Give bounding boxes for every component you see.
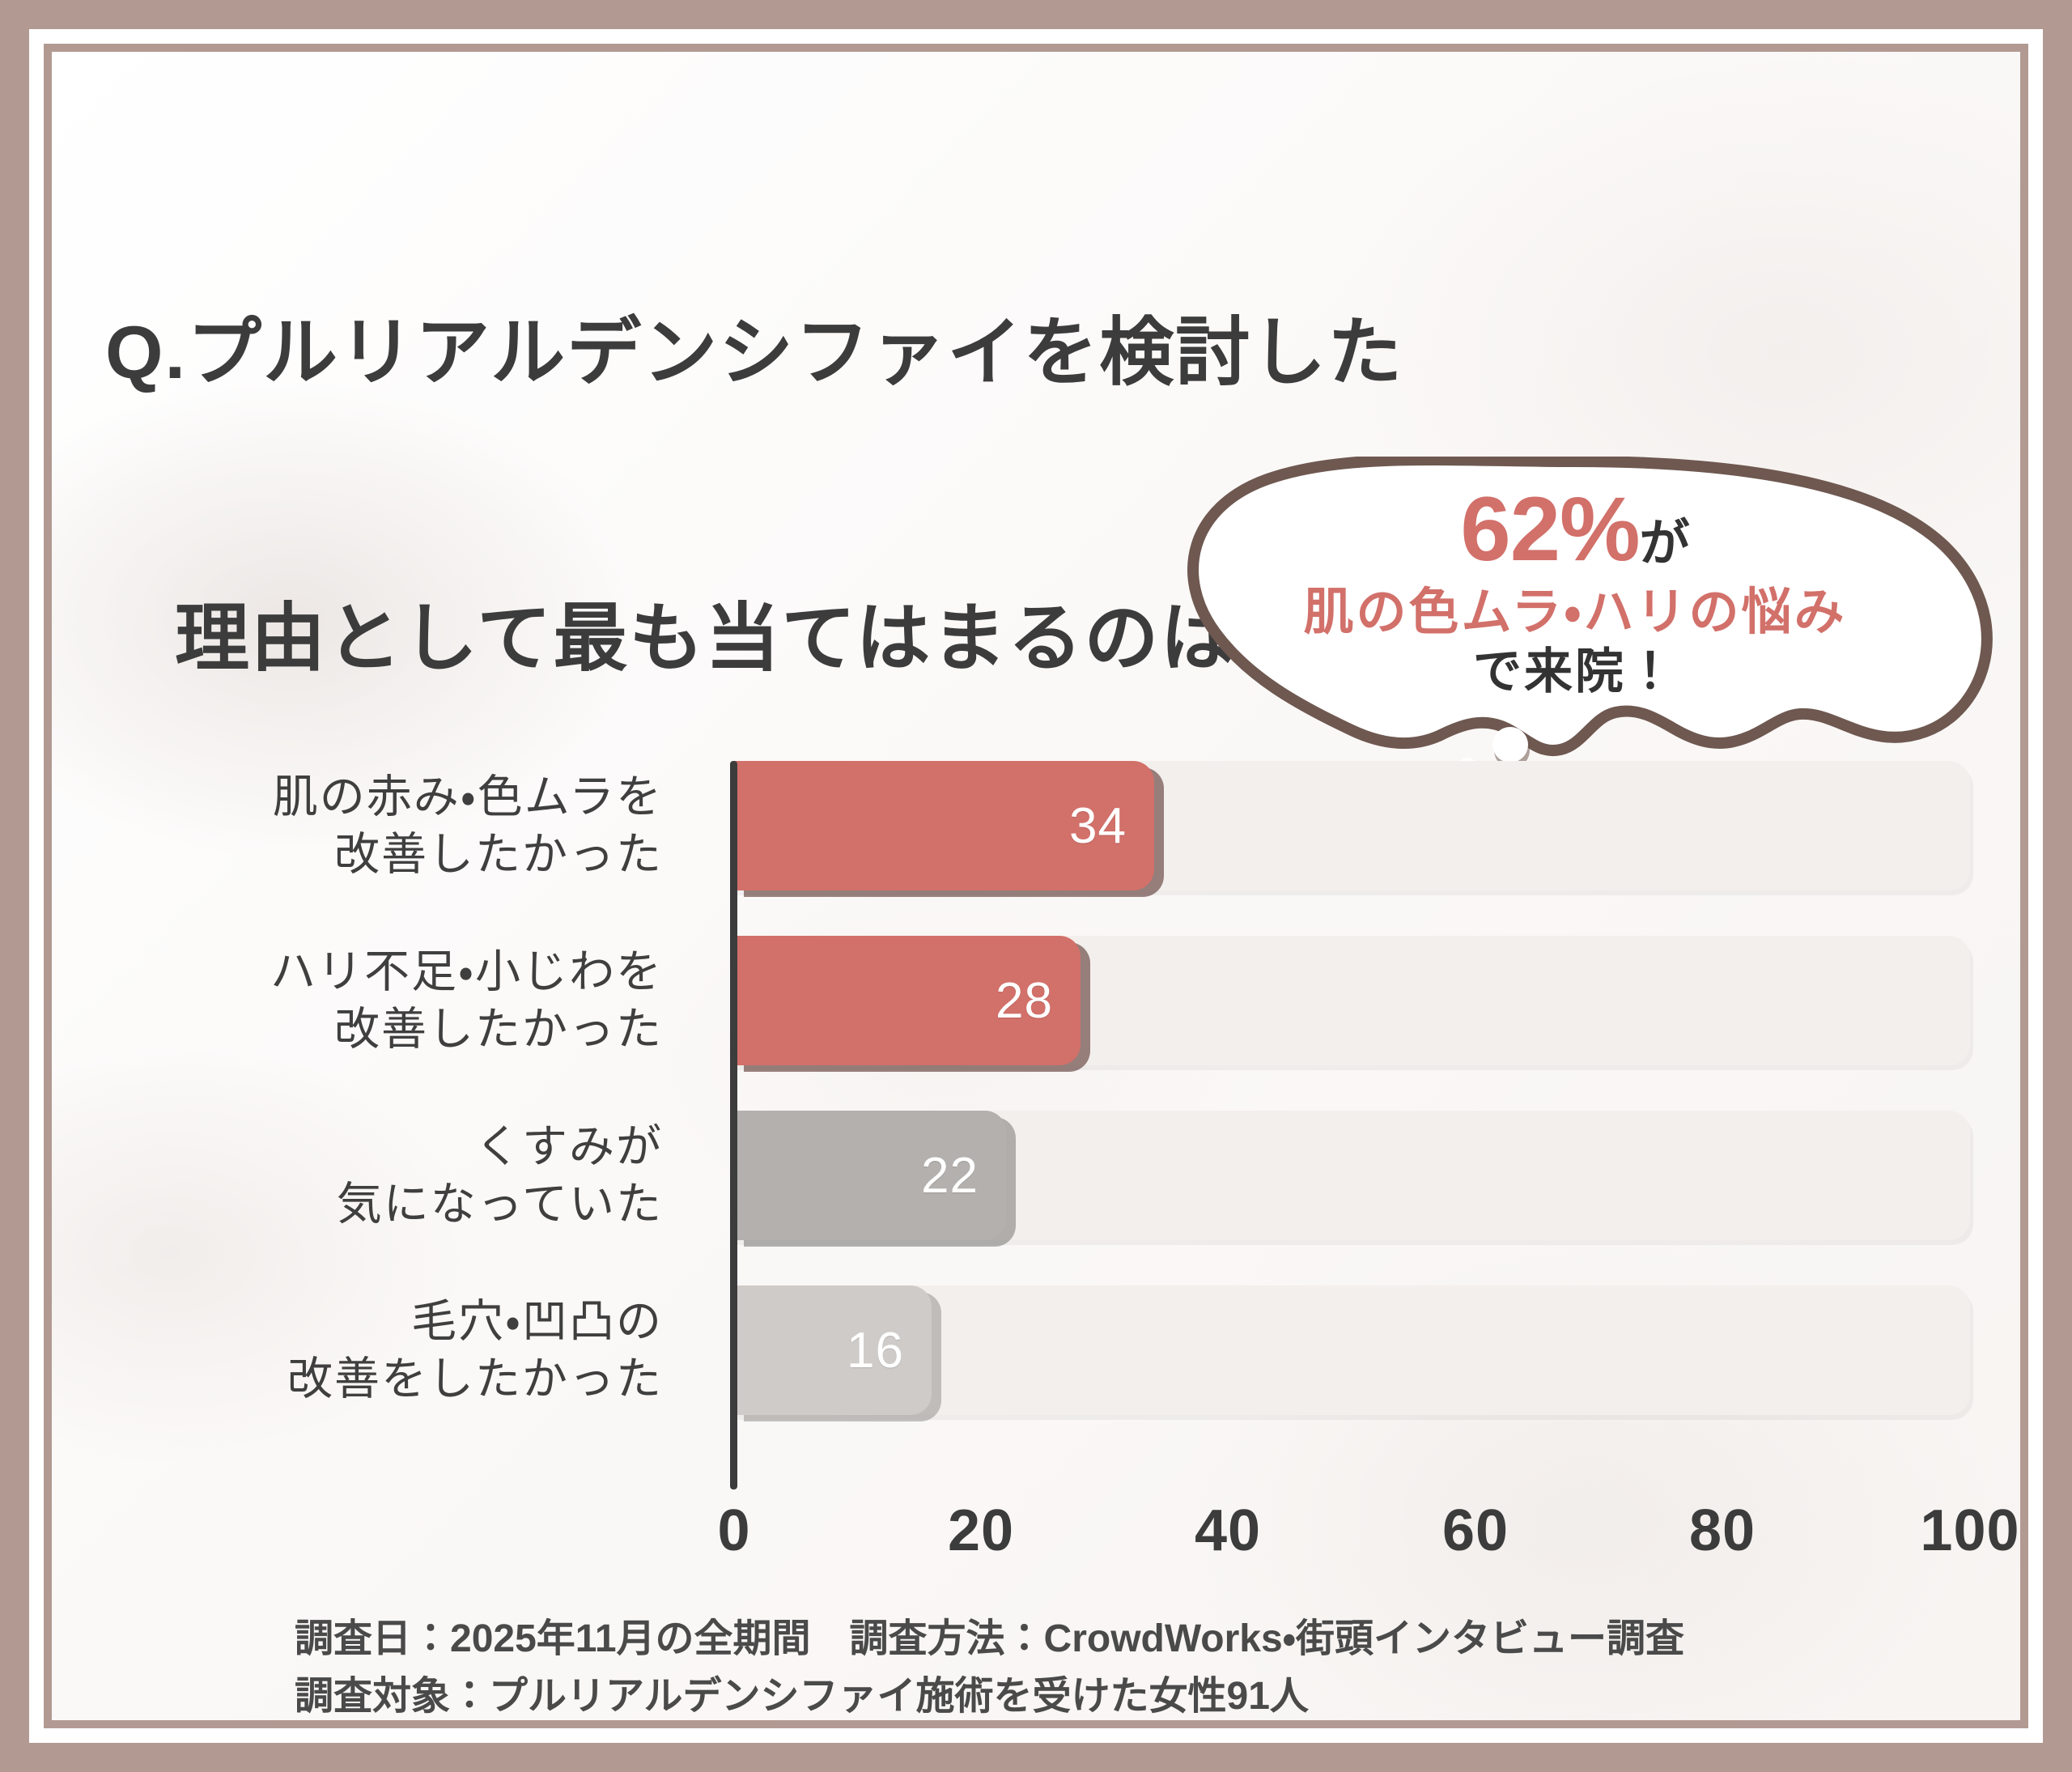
frame-inner-border: Q.プルリアルデンシファイを検討した 理由として最も当てはまるのはどれですか？ … xyxy=(44,44,2028,1728)
bar-value-label: 28 xyxy=(996,972,1053,1030)
chart-row: 肌の赤み・色ムラを 改善したかった 34 xyxy=(52,761,2028,890)
survey-meta: 調査日：2025年11月の全期間 調査方法：CrowdWorks・街頭インタビュ… xyxy=(295,1610,1994,1725)
frame-white-band: Q.プルリアルデンシファイを検討した 理由として最も当てはまるのはどれですか？ … xyxy=(29,29,2043,1743)
callout-line-1: 62%が xyxy=(1146,484,2004,575)
bar: 28 xyxy=(734,936,1081,1065)
survey-meta-line-2: 調査対象：プルリアルデンシファイ施術を受けた女性91人 xyxy=(295,1668,1994,1725)
x-tick: 60 xyxy=(1442,1498,1509,1564)
bar-value-label: 34 xyxy=(1069,797,1127,855)
category-label: くすみが 気になっていた xyxy=(113,1118,663,1232)
category-label: ハリ不足・小じわを 改善したかった xyxy=(113,943,663,1057)
x-tick: 20 xyxy=(948,1498,1014,1564)
x-tick: 40 xyxy=(1195,1498,1261,1564)
bar-value-label: 16 xyxy=(847,1322,904,1379)
poster-content: Q.プルリアルデンシファイを検討した 理由として最も当てはまるのはどれですか？ … xyxy=(52,52,2020,1720)
x-tick: 100 xyxy=(1920,1498,2019,1564)
poster: Q.プルリアルデンシファイを検討した 理由として最も当てはまるのはどれですか？ … xyxy=(0,0,2072,1772)
survey-meta-line-1: 調査日：2025年11月の全期間 調査方法：CrowdWorks・街頭インタビュ… xyxy=(295,1610,1994,1668)
callout-percent: 62% xyxy=(1460,478,1639,580)
bar: 22 xyxy=(734,1111,1006,1240)
bar: 34 xyxy=(734,761,1154,890)
chart-row: 毛穴・凹凸の 改善をしたかった 16 xyxy=(52,1285,2028,1415)
x-tick: 80 xyxy=(1689,1498,1756,1564)
chart-row: くすみが 気になっていた 22 xyxy=(52,1111,2028,1240)
callout-line-2: 肌の色ムラ・ハリの悩み xyxy=(1146,588,2004,638)
category-label: 肌の赤み・色ムラを 改善したかった xyxy=(113,768,663,882)
callout-percent-suffix: が xyxy=(1640,516,1690,572)
bar-chart: 肌の赤み・色ムラを 改善したかった 34 ハリ不足・小じわを 改善したかった 2… xyxy=(52,761,2028,1489)
callout-text: 62%が 肌の色ムラ・ハリの悩み で来院！ xyxy=(1146,484,2004,696)
bar: 16 xyxy=(734,1285,932,1415)
category-label: 毛穴・凹凸の 改善をしたかった xyxy=(113,1293,663,1407)
title-line-1: Q.プルリアルデンシファイを検討した xyxy=(105,306,1999,402)
bar-value-label: 22 xyxy=(921,1147,979,1205)
callout-line-3: で来院！ xyxy=(1146,648,2004,696)
x-axis: 0 20 40 60 80 100 xyxy=(52,1498,2028,1579)
speech-bubble-dot-large-icon xyxy=(1492,727,1528,763)
chart-row: ハリ不足・小じわを 改善したかった 28 xyxy=(52,936,2028,1065)
callout-bubble: 62%が 肌の色ムラ・ハリの悩み で来院！ xyxy=(1146,457,2004,797)
x-tick: 0 xyxy=(717,1498,750,1564)
y-axis-line xyxy=(730,761,737,1489)
